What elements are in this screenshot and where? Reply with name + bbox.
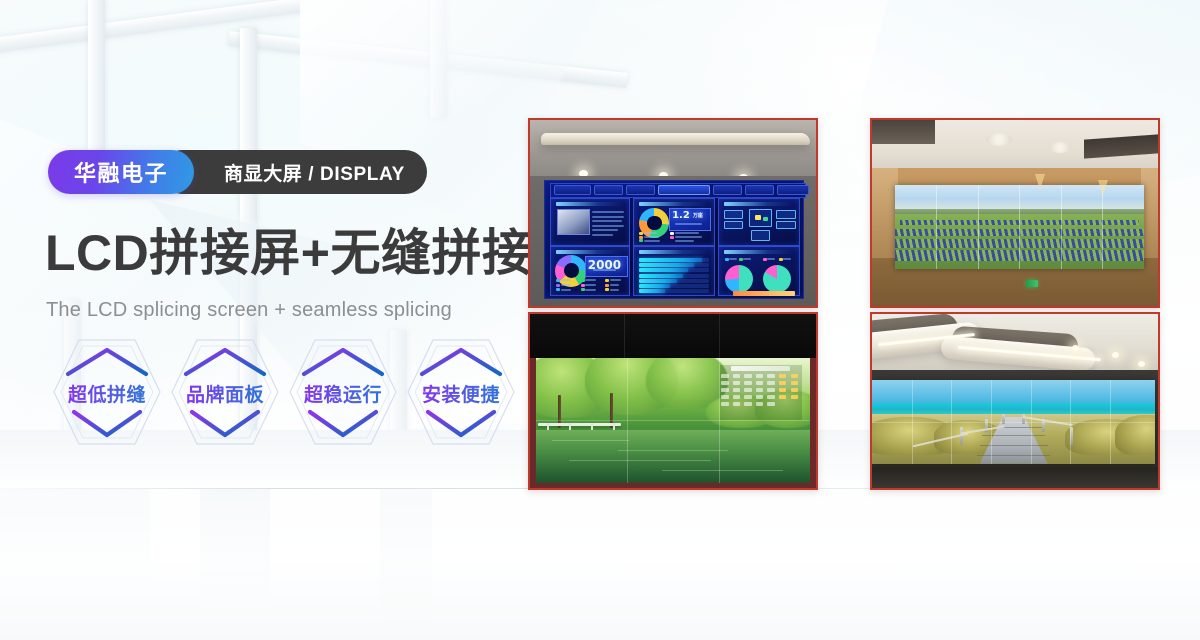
flow-node [724,221,744,229]
photo-willow-lake-calendar-wall[interactable] [528,312,818,490]
card-text-line [592,225,624,227]
card-text-line [592,229,618,231]
boardwalk-plank [977,455,1051,456]
card-text-line [592,211,624,213]
bezel-seam [719,314,720,358]
photo-control-room-dashboard[interactable]: 1.2 万座 [528,118,818,308]
ceiling-cove [541,133,810,145]
lakeside-railing [538,423,620,426]
legend-swatch [556,279,560,282]
feature-badge-1[interactable]: 超低拼缝 [50,336,164,448]
dashboard-topbar [550,183,805,198]
calendar-cell [756,374,763,378]
photo-inner [872,120,1158,306]
photo-inner: 1.2 万座 [530,120,816,306]
topbar-chip [554,185,591,195]
pie-chart [763,265,791,293]
calendar-cell [767,374,774,378]
legend-text [675,240,694,242]
boardwalk-plank [980,445,1048,446]
sky [872,380,1155,405]
feature-badge-4[interactable]: 安装便捷 [404,336,518,448]
legend-swatch [605,288,609,291]
dashboard-card-bar-chart [633,246,715,296]
topbar-title-chip [658,185,709,195]
calendar-cell [733,402,740,406]
card-title-bar [639,250,709,254]
dashboard-card-intro [550,198,629,246]
legend-text [610,284,619,286]
page-subtitle: The LCD splicing screen + seamless splic… [46,299,452,322]
calendar-cell-highlight [779,381,786,385]
card-thumbnail [557,209,590,235]
exit-sign-icon [1026,280,1038,287]
calendar-cell [733,388,740,392]
calendar-cell [744,374,751,378]
category-badge-label: 商显大屏 / DISPLAY [224,159,405,186]
category-badge: 商显大屏 / DISPLAY [160,150,427,194]
bar-value [639,268,688,272]
legend-text [644,240,660,242]
feature-badge-label: 品牌面板 [168,380,282,407]
legend-text [783,258,790,260]
legend-text [585,279,596,281]
legend-text [610,279,621,281]
photo-inner [872,314,1158,488]
calendar-cell [744,388,751,392]
feature-badge-list: 超低拼缝 品牌面板 [50,336,520,448]
dashboard-card-donut-2000: 2000 [550,246,629,296]
brand-pill-label: 华融电子 [74,156,168,188]
photo-beach-boardwalk-wall[interactable] [870,312,1160,490]
legend-swatch [556,288,560,291]
calendar-cell-highlight [779,374,786,378]
bezel-seam [624,314,625,358]
feature-badge-3[interactable]: 超稳运行 [286,336,400,448]
metric-unit: 万座 [693,212,703,219]
feature-badge-label: 安装便捷 [404,380,518,407]
flow-accent [755,215,761,220]
upper-bezel [530,314,816,358]
video-wall-screen [872,380,1155,464]
lake-water [536,430,811,483]
water-ripple [552,440,629,441]
flow-node [776,210,796,219]
splice-seam [978,185,979,269]
bar-value [639,279,677,283]
card-title-bar [639,202,709,206]
brand-pill: 华融电子 [48,150,194,194]
video-wall-screen [536,358,811,483]
legend-swatch [581,284,585,287]
legend-text [610,289,619,291]
feature-badge-label: 超低拼缝 [50,380,164,407]
metric-caption [593,269,616,271]
calendar-cell [756,388,763,392]
legend-text [743,258,751,260]
bar-value [639,284,671,288]
pie-chart [725,265,753,293]
calendar-cell [767,388,774,392]
calendar-cell [733,381,740,385]
legend-swatch [639,236,643,239]
metric-value: 1.2 [672,210,690,221]
dashboard-card-donut-metric: 1.2 万座 [633,198,715,246]
product-banner: 商显大屏 / DISPLAY 华融电子 LCD拼接屏+无缝拼接 The LCD … [0,0,1200,640]
ceiling [530,120,816,180]
calendar-cell [721,388,728,392]
splice-seam [1061,185,1062,269]
card-title-bar [556,250,623,254]
wall-wash-lamp [1098,180,1108,196]
legend-swatch [605,284,609,287]
ceiling-slab [872,120,935,144]
photo-inner [530,314,816,488]
calendar-cell [767,395,774,399]
calendar-cell [733,395,740,399]
calendar-cell [744,395,751,399]
calendar-cell [721,381,728,385]
calendar-cell-highlight [791,388,798,392]
legend-swatch [581,279,585,282]
video-wall-screen [895,185,1144,269]
flow-node [776,221,796,229]
flow-node [724,210,744,219]
calendar-cell [733,374,740,378]
calendar-cell-highlight [779,395,786,399]
donut-chart [555,255,587,287]
calendar-cell [767,402,774,406]
dashboard-card-pie-charts [718,246,800,296]
splice-seam [536,420,811,421]
card-text-line [592,220,623,222]
legend-text [644,232,657,234]
polished-floor [872,467,1158,488]
splice-seam [1019,185,1020,269]
legend-text [561,289,572,291]
metric-caption [675,223,702,225]
legend-text [675,232,699,234]
legend-swatch [556,284,560,287]
calendar-cell [767,381,774,385]
legend-swatch [639,232,643,235]
calendar-cell [721,374,728,378]
ceiling-downlight [1138,361,1145,367]
topbar-chip [713,185,742,195]
calendar-overlay [720,365,802,420]
feature-badge-label: 超稳运行 [286,380,400,407]
legend-text [675,236,702,238]
flow-accent [763,217,768,221]
calendar-cell [756,395,763,399]
legend-text [585,284,596,286]
calendar-cell-highlight [791,381,798,385]
wall-wash-lamp [1035,174,1045,190]
dashboard-ticker [733,291,795,296]
topbar-chip [594,185,623,195]
legend-text [561,279,572,281]
card-text-line [592,234,614,236]
topbar-chip [777,185,809,195]
legend-swatch [605,279,609,282]
calendar-cell [721,402,728,406]
legend-swatch [581,288,585,291]
water-ripple [662,470,783,471]
legend-text [644,236,658,238]
dashboard-card-flow-diagram [718,198,800,246]
video-wall-screen: 1.2 万座 [544,180,803,299]
water-ripple [618,450,728,451]
bar-value [639,263,695,267]
legend-text [729,258,737,260]
calendar-cell [721,395,728,399]
topbar-chip [626,185,655,195]
splice-seam [872,422,1155,423]
calendar-cell-highlight [791,395,798,399]
legend-text [561,284,572,286]
calendar-cell-highlight [779,388,786,392]
calendar-cell [756,381,763,385]
legend-swatch [639,239,643,242]
legend-text [767,258,775,260]
calendar-cell-highlight [791,374,798,378]
splice-seam [936,185,937,269]
page-title: LCD拼接屏+无缝拼接 [45,228,532,278]
water-ripple [569,460,712,461]
card-text-line [592,216,624,218]
card-title-bar [724,202,794,206]
legend-text [585,289,596,291]
legend-swatch [670,236,674,239]
product-photo-grid: 1.2 万座 [528,118,1160,490]
card-title-bar [556,202,623,206]
brand-badge-group: 商显大屏 / DISPLAY 华融电子 [48,150,194,194]
topbar-chip [745,185,774,195]
splice-seam [1102,185,1103,269]
calendar-title [731,366,790,371]
photo-panoramic-solar-farm-wall[interactable] [870,118,1160,308]
bar-value [639,274,684,278]
calendar-cell [744,402,751,406]
flow-node [751,230,771,241]
legend-swatch [670,232,674,235]
calendar-cell [744,381,751,385]
calendar-cell [756,402,763,406]
bar-value [639,289,665,293]
banner-text-column: 商显大屏 / DISPLAY 华融电子 LCD拼接屏+无缝拼接 The LCD … [0,0,520,640]
feature-badge-2[interactable]: 品牌面板 [168,336,282,448]
bar-value [639,258,703,262]
card-title-bar [724,250,794,254]
